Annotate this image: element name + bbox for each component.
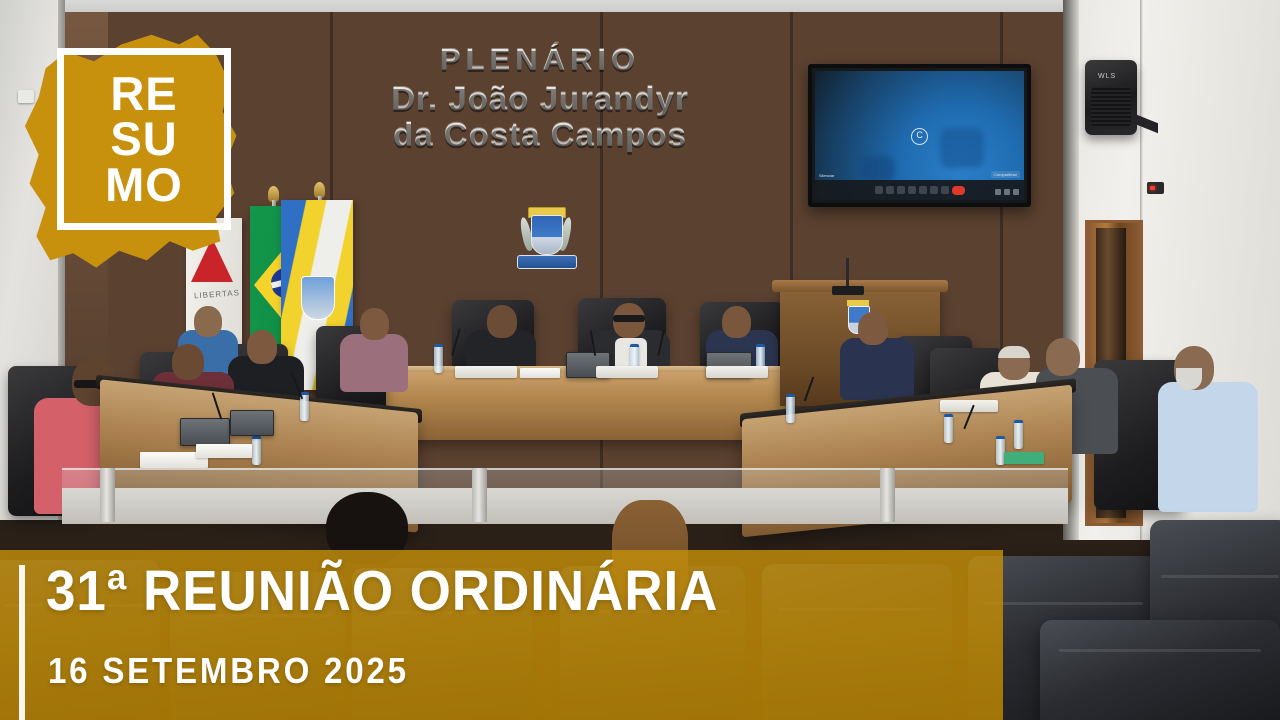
podium-mic-base [832,286,864,295]
person-head [194,306,222,337]
tv-label-left: Silenciar [819,173,834,178]
documents [520,368,560,378]
documents [196,444,252,458]
wall-sign-line-3: da Costa Campos [330,118,750,152]
grey-hair [998,346,1030,358]
glass-post [880,468,895,522]
person-head [722,306,751,338]
municipal-emblem-icon [301,276,335,320]
more-options-icon [941,186,949,194]
microphone-icon [875,186,883,194]
water-bottle [252,436,261,465]
signal-icon [995,189,1001,195]
nameplate [455,366,517,378]
mg-motto-label: LIBERTAS [194,289,235,301]
water-bottle [1014,420,1023,449]
badge-line-3: MO [105,162,183,208]
video-thumbnail-frame: WLS PLENÁRIO Dr. João Jurandyr da Costa … [0,0,1280,720]
shield-icon [531,215,563,255]
badge-text: RE SU MO [57,48,231,230]
tv-screen: C Silenciar Compartilhar Chat [815,71,1024,200]
person-head [487,305,517,338]
wall-sign-line-1: PLENÁRIO [330,44,750,76]
tv-call-toolbar [815,180,1024,200]
wall-sign-line-2: Dr. João Jurandyr [330,82,750,116]
tv-label-right: Compartilhar [991,171,1020,178]
glass-post [472,468,487,522]
water-bottle [434,344,443,373]
glass-barrier [62,468,1068,522]
layout-icon [1004,189,1010,195]
person-head [858,312,888,345]
nameplate [940,400,998,412]
water-bottle [786,394,795,423]
tv-status-icons [995,189,1019,195]
person-head [1046,338,1080,376]
audience-chair [1040,620,1280,720]
video-participant-blob [861,156,895,182]
banner-accent-rule [19,565,25,720]
meeting-date: 16 SETEMBRO 2025 [48,650,409,692]
plenary-wall-sign: PLENÁRIO Dr. João Jurandyr da Costa Camp… [330,44,750,152]
green-folder [1004,452,1044,464]
camera-icon [886,186,894,194]
council-member-light-blue-shirt [1158,382,1258,512]
person-head [247,330,277,364]
council-member-navy-blazer [840,338,914,400]
pa-speaker: WLS [1085,60,1137,135]
person-head [172,344,204,380]
coat-of-arms-wall [515,205,577,280]
resumo-badge: RE SU MO [18,30,248,270]
status-led-device [1147,182,1164,194]
person-head [360,308,389,340]
laptop [230,410,274,436]
chat-icon [919,186,927,194]
laptop-screen [231,411,273,435]
laptop-screen [181,419,229,445]
participants-icon [908,186,916,194]
nameplate [706,366,768,378]
ribbon-banner [517,255,577,269]
badge-line-2: SU [110,116,177,162]
fullscreen-icon [1013,189,1019,195]
council-member-mauve-shirt [340,334,408,392]
wall-tv: C Silenciar Compartilhar Chat [808,64,1031,207]
participant-avatar: C [911,128,928,145]
beard [1176,368,1202,390]
badge-line-1: RE [110,71,177,117]
share-screen-icon [897,186,905,194]
meeting-title: 31ª REUNIÃO ORDINÁRIA [46,558,939,624]
nameplate [596,366,658,378]
laptop [180,418,230,446]
eyeglasses-icon [613,315,645,322]
reactions-icon [930,186,938,194]
glass-post [100,468,115,522]
video-participant-blob [940,128,984,168]
speaker-brand-label: WLS [1098,73,1116,80]
end-call-icon [952,186,965,195]
speaker-grill [1091,86,1131,128]
water-bottle [944,414,953,443]
